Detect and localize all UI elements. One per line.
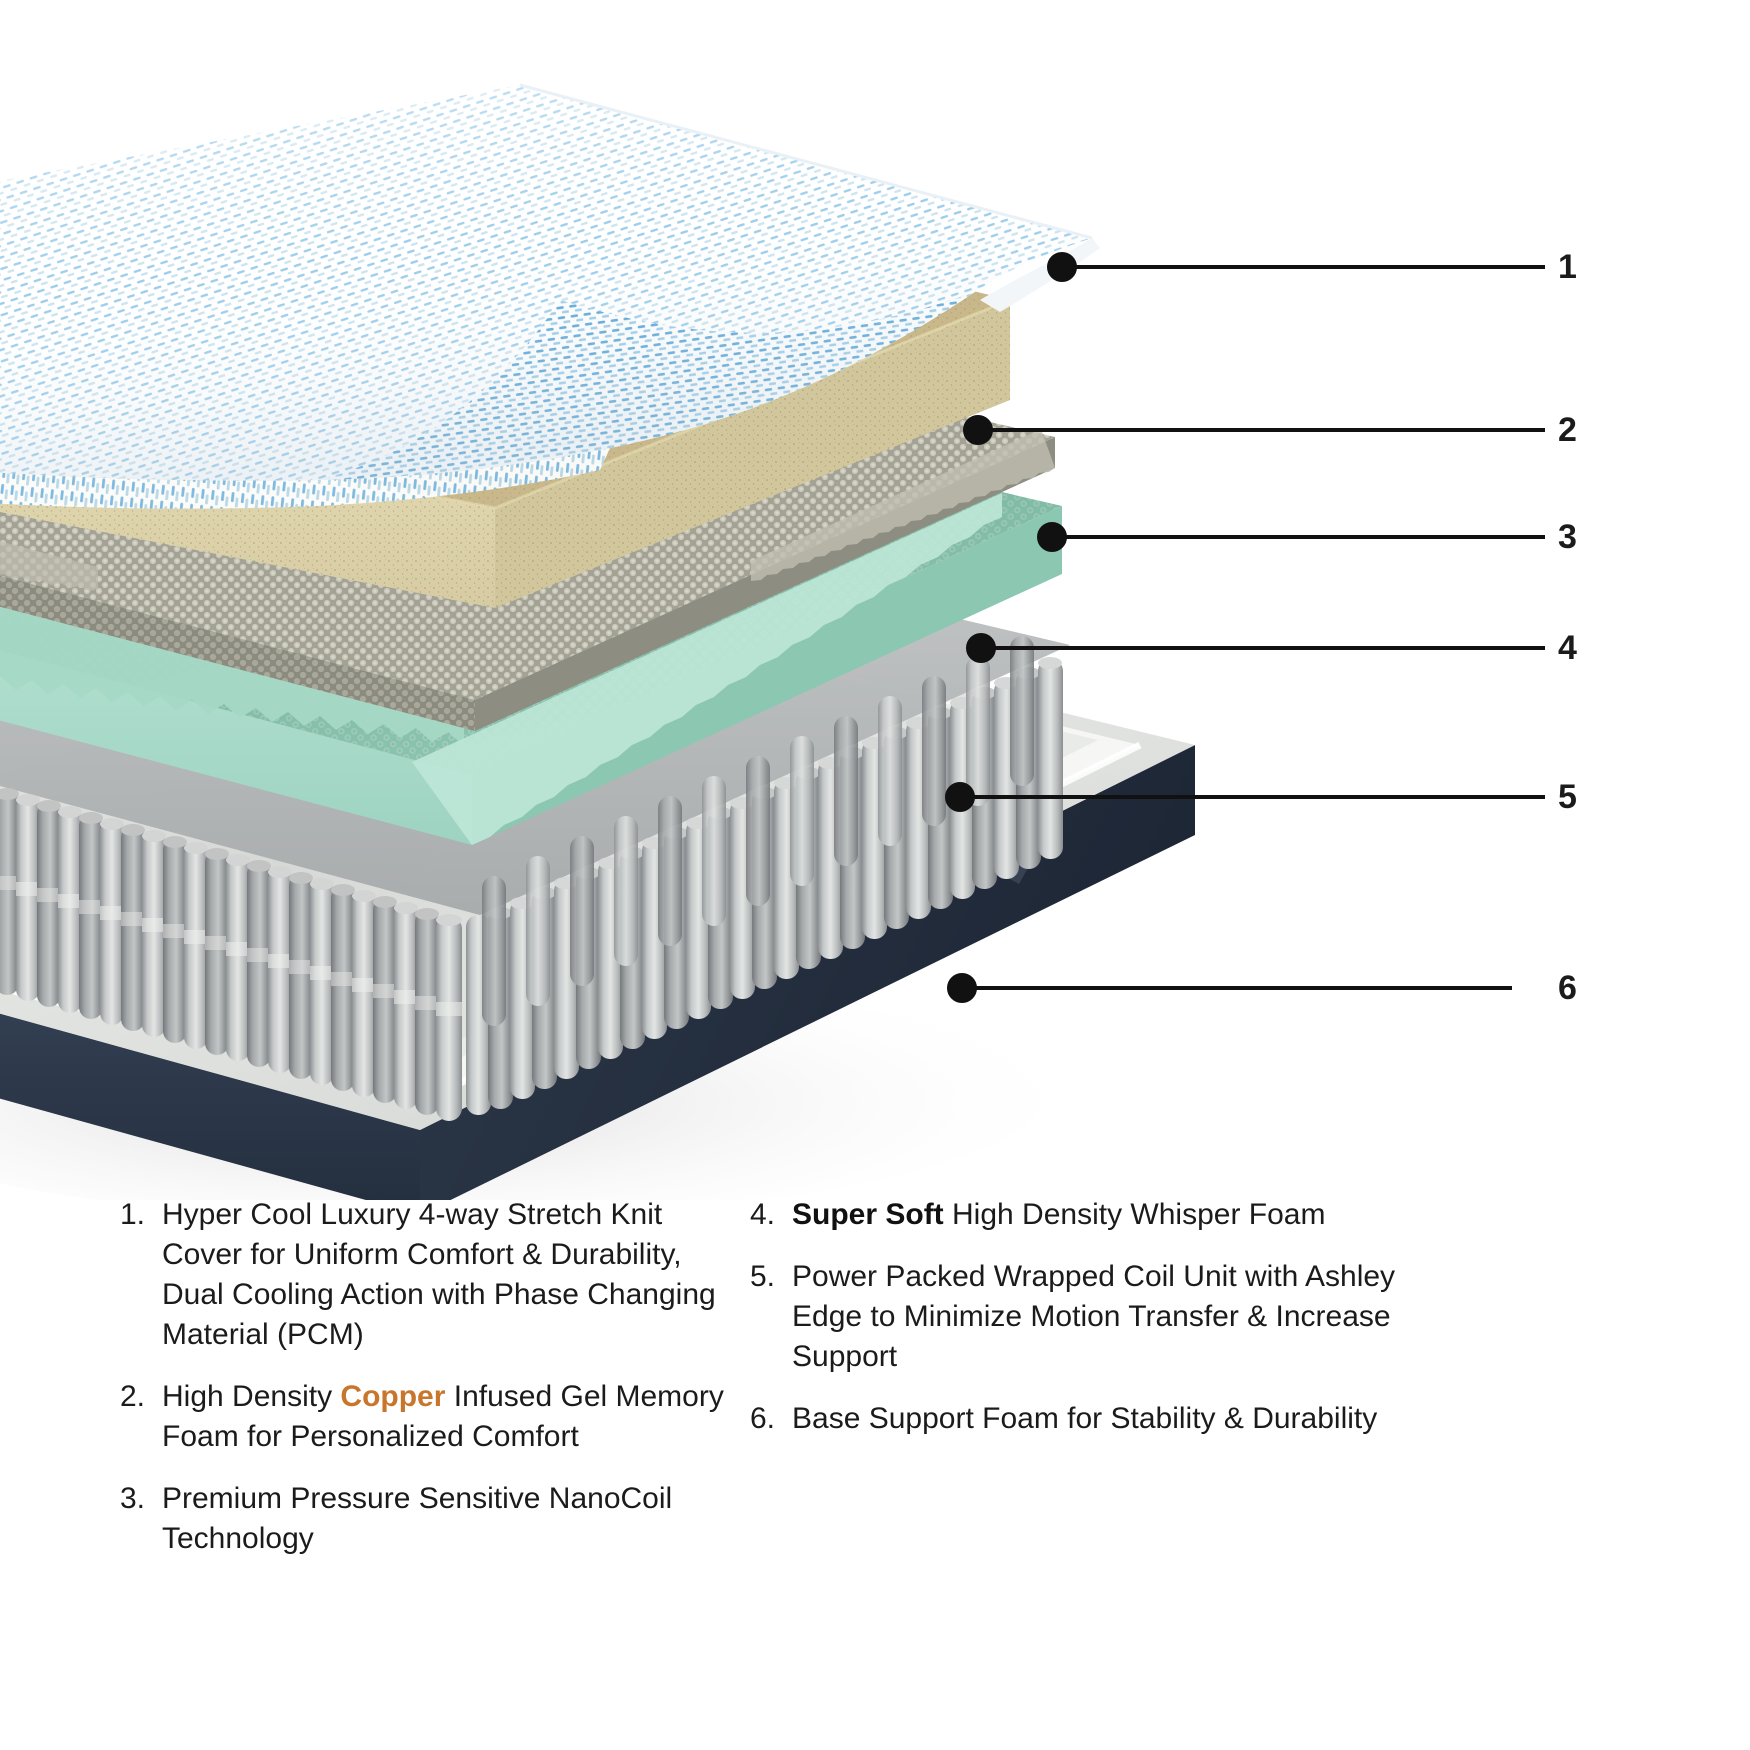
legend-text-part: Copper: [340, 1380, 445, 1413]
legend-left-column: 1.Hyper Cool Luxury 4-way Stretch Knit C…: [0, 1195, 740, 1750]
callout-number-4: 4: [1558, 631, 1577, 665]
legend-item: 1.Hyper Cool Luxury 4-way Stretch Knit C…: [120, 1195, 740, 1355]
legend-item: 5.Power Packed Wrapped Coil Unit with As…: [750, 1257, 1750, 1377]
legend-text-part: High Density: [162, 1380, 340, 1413]
callout-number-3: 3: [1558, 520, 1577, 554]
legend-text-part: Power Packed Wrapped Coil Unit with Ashl…: [792, 1260, 1395, 1373]
legend-item-text: Hyper Cool Luxury 4-way Stretch Knit Cov…: [162, 1195, 740, 1355]
legend-item-number: 4.: [750, 1195, 792, 1235]
legend-right-column: 4.Super Soft High Density Whisper Foam5.…: [740, 1195, 1750, 1750]
legend-text-part: High Density Whisper Foam: [944, 1198, 1326, 1231]
legend-text-part: Hyper Cool Luxury 4-way Stretch Knit Cov…: [162, 1198, 716, 1351]
legend-item-number: 1.: [120, 1195, 162, 1235]
callout-number-2: 2: [1558, 413, 1577, 447]
legend-text-part: Premium Pressure Sensitive NanoCoil Tech…: [162, 1482, 672, 1555]
legend-item: 2.High Density Copper Infused Gel Memory…: [120, 1377, 740, 1457]
legend-item-text: Base Support Foam for Stability & Durabi…: [792, 1399, 1377, 1439]
legend-item-number: 3.: [120, 1479, 162, 1519]
legend-item-text: Premium Pressure Sensitive NanoCoil Tech…: [162, 1479, 740, 1559]
mattress-exploded-illustration: [0, 0, 1750, 1200]
legend-item-number: 5.: [750, 1257, 792, 1297]
legend-item-text: Super Soft High Density Whisper Foam: [792, 1195, 1325, 1235]
callout-number-5: 5: [1558, 780, 1577, 814]
legend-item: 3.Premium Pressure Sensitive NanoCoil Te…: [120, 1479, 740, 1559]
legend-item-number: 6.: [750, 1399, 792, 1439]
legend-item: 6.Base Support Foam for Stability & Dura…: [750, 1399, 1750, 1439]
legend: 1.Hyper Cool Luxury 4-way Stretch Knit C…: [0, 1195, 1750, 1750]
legend-text-part: Base Support Foam for Stability & Durabi…: [792, 1402, 1377, 1435]
legend-item-text: High Density Copper Infused Gel Memory F…: [162, 1377, 740, 1457]
legend-text-part: Super Soft: [792, 1198, 944, 1231]
legend-item: 4.Super Soft High Density Whisper Foam: [750, 1195, 1750, 1235]
legend-item-text: Power Packed Wrapped Coil Unit with Ashl…: [792, 1257, 1432, 1377]
legend-item-number: 2.: [120, 1377, 162, 1417]
callout-number-1: 1: [1558, 250, 1577, 284]
callout-number-6: 6: [1558, 971, 1577, 1005]
mattress-construction-page: 1 2 3 4 5 6 1.Hyper Cool Luxury 4-way St…: [0, 0, 1750, 1750]
